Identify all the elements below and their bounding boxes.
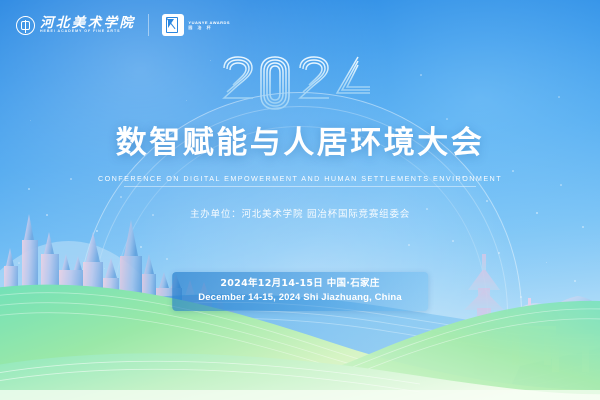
page-title: 数智赋能与人居环境大会: [0, 128, 600, 159]
logo-divider: [148, 14, 149, 36]
year-heading: [220, 52, 380, 114]
sparkle-dot: [30, 120, 31, 121]
awards-name-en: YUANYE AWARDS: [188, 20, 230, 25]
university-name-en: HEBEI ACADEMY OF FINE ARTS: [40, 30, 135, 34]
university-seal-icon: [16, 16, 35, 35]
title-divider: [124, 186, 476, 187]
sparkle-dot: [446, 118, 448, 120]
awards-badge-icon: [162, 14, 184, 36]
university-name-cn: 河北美术学院: [40, 16, 135, 30]
logo-bar: 河北美术学院 HEBEI ACADEMY OF FINE ARTS YUANYE…: [16, 14, 230, 36]
awards-logo[interactable]: YUANYE AWARDS 园 冶 杯: [162, 14, 230, 36]
event-date-cn: 2024年12月14-15日 中国·石家庄: [198, 277, 402, 291]
event-date-badge: 2024年12月14-15日 中国·石家庄 December 14-15, 20…: [172, 272, 428, 311]
year-heading-wrap: [0, 52, 600, 114]
awards-name-cn: 园 冶 杯: [188, 26, 230, 30]
host-organizations: 主办单位：河北美术学院 园冶杯国际竞赛组委会: [0, 206, 600, 220]
event-date-en: December 14-15, 2024 Shi Jiazhuang, Chin…: [198, 291, 402, 305]
university-logo[interactable]: 河北美术学院 HEBEI ACADEMY OF FINE ARTS: [16, 16, 135, 35]
conference-banner: 河北美术学院 HEBEI ACADEMY OF FINE ARTS YUANYE…: [0, 0, 600, 400]
page-subtitle: CONFERENCE ON DIGITAL EMPOWERMENT AND HU…: [0, 174, 600, 183]
